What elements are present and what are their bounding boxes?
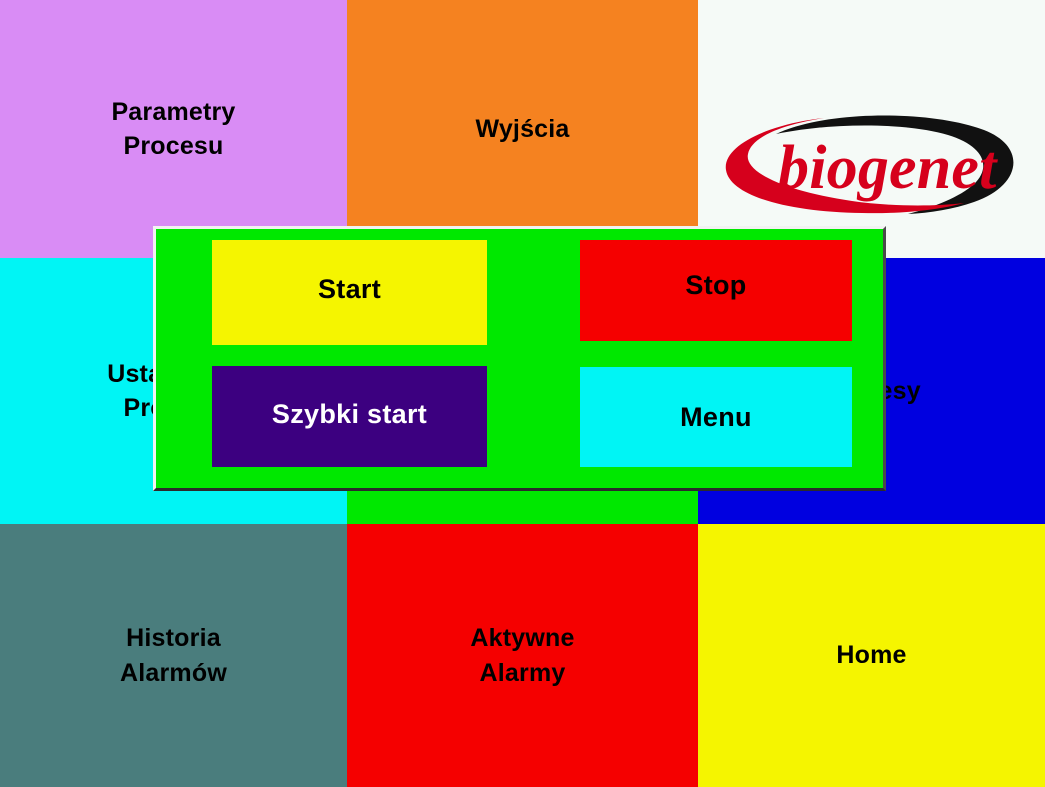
tile-active-alarms[interactable]: Aktywne Alarmy — [347, 524, 698, 787]
logo-wordmark: biogenet — [778, 134, 998, 202]
tile-label-alarm-history: Historia Alarmów — [120, 621, 227, 690]
hmi-screen: Parametry Procesu Wyjścia biogenet Ustaw… — [0, 0, 1045, 787]
tile-outputs[interactable]: Wyjścia — [347, 0, 698, 258]
menu-button[interactable]: Menu — [580, 367, 852, 467]
tile-alarm-history[interactable]: Historia Alarmów — [0, 524, 347, 787]
start-button-label: Start — [318, 274, 381, 305]
tile-label-process-parameters: Parametry Procesu — [111, 95, 235, 164]
tile-process-parameters[interactable]: Parametry Procesu — [0, 0, 347, 258]
quick-start-button-label: Szybki start — [272, 399, 427, 430]
biogenet-logo: biogenet — [716, 73, 1028, 185]
start-button[interactable]: Start — [212, 240, 487, 345]
tile-label-active-alarms: Aktywne Alarmy — [470, 621, 574, 690]
quick-start-button[interactable]: Szybki start — [212, 366, 487, 467]
control-dialog-body: Start Stop Szybki start Menu — [156, 229, 883, 488]
tile-label-outputs: Wyjścia — [475, 112, 569, 147]
menu-button-label: Menu — [680, 402, 752, 433]
stop-button[interactable]: Stop — [580, 240, 852, 341]
tile-label-home: Home — [836, 638, 906, 673]
tile-home[interactable]: Home — [698, 524, 1045, 787]
stop-button-label: Stop — [685, 270, 746, 301]
tile-logo: biogenet — [698, 0, 1045, 258]
biogenet-logo-svg: biogenet — [716, 108, 1028, 220]
control-dialog: Start Stop Szybki start Menu — [153, 226, 886, 491]
